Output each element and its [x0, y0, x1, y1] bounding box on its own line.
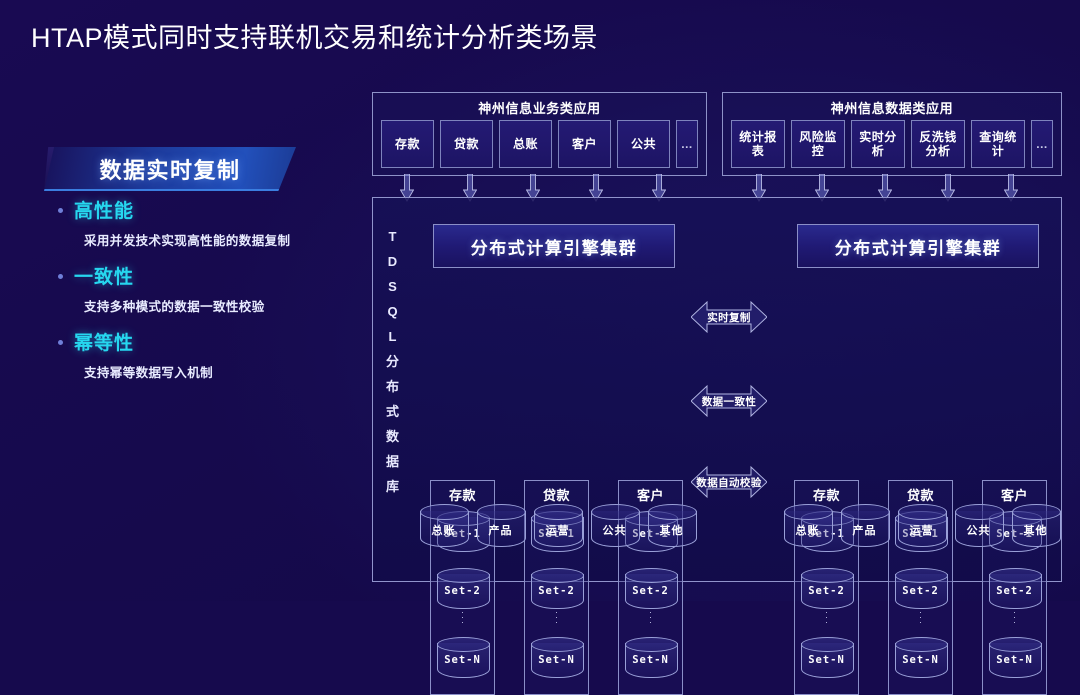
db-set-cylinder[interactable]: Set-2	[437, 568, 488, 608]
sync-arrow: 实时复制	[691, 296, 767, 338]
cylinder-top	[437, 568, 490, 583]
sync-arrow-label: 数据一致性	[691, 380, 767, 422]
db-domain-cylinder[interactable]: 产品	[477, 504, 524, 546]
app-cell[interactable]: 存款	[381, 120, 434, 168]
vertical-ellipsis-icon: ···	[619, 610, 682, 625]
cylinder-top	[591, 504, 640, 520]
vertical-ellipsis-icon: ···	[525, 610, 588, 625]
db-set-label: Set-2	[531, 585, 582, 597]
vertical-ellipsis-icon: ···	[983, 610, 1046, 625]
db-column-title: 贷款	[525, 485, 588, 504]
db-domain-label: 其他	[648, 522, 695, 538]
db-set-cylinder[interactable]: Set-2	[625, 568, 676, 608]
cylinder-top	[801, 568, 854, 583]
db-set-label: Set-N	[625, 654, 676, 666]
bullet-dot-icon	[58, 208, 63, 213]
cylinder-top	[420, 504, 469, 520]
db-set-cylinder[interactable]: Set-N	[531, 637, 582, 677]
tdsql-vertical-char: 分	[381, 349, 405, 374]
db-domain-cylinder[interactable]: 产品	[841, 504, 888, 546]
section-banner: 数据实时复制	[44, 147, 296, 191]
app-cell[interactable]: 客户	[558, 120, 611, 168]
feature-item: 高性能 采用并发技术实现高性能的数据复制	[58, 196, 358, 249]
db-column-title: 贷款	[889, 485, 952, 504]
db-set-label: Set-2	[437, 585, 488, 597]
cylinder-top	[898, 504, 947, 520]
vertical-ellipsis-icon: ···	[431, 610, 494, 625]
db-set-cylinder[interactable]: Set-N	[801, 637, 852, 677]
tdsql-vertical-label: TDSQL分布式数据库 TDSQL分布式数据库	[381, 224, 405, 499]
app-cell[interactable]: 公共	[617, 120, 670, 168]
db-set-cylinder[interactable]: Set-2	[801, 568, 852, 608]
cylinder-top	[801, 637, 854, 652]
db-set-label: Set-N	[437, 654, 488, 666]
db-set-label: Set-2	[895, 585, 946, 597]
db-set-cylinder[interactable]: Set-N	[625, 637, 676, 677]
app-group-title: 神州信息业务类应用	[373, 98, 706, 117]
cylinder-top	[955, 504, 1004, 520]
db-column-title: 客户	[619, 485, 682, 504]
sync-arrow-label: 实时复制	[691, 296, 767, 338]
cylinder-top	[531, 637, 584, 652]
db-domain-label: 其他	[1012, 522, 1059, 538]
feature-desc: 采用并发技术实现高性能的数据复制	[84, 230, 358, 249]
tdsql-vertical-char: T	[381, 224, 405, 249]
db-domain-label: 运营	[534, 522, 581, 538]
db-set-cylinder[interactable]: Set-N	[895, 637, 946, 677]
app-group-business: 神州信息业务类应用 存款 贷款 总账 客户 公共 …	[372, 92, 707, 176]
feature-title: 幂等性	[74, 328, 134, 355]
cylinder-top	[437, 637, 490, 652]
tdsql-vertical-char: 数	[381, 424, 405, 449]
app-group-data: 神州信息数据类应用 统计报表 风险监控 实时分析 反洗钱分析 查询统计 …	[722, 92, 1062, 176]
feature-item: 一致性 支持多种模式的数据一致性校验	[58, 262, 358, 315]
db-domain-label: 公共	[955, 522, 1002, 538]
cylinder-top	[895, 568, 948, 583]
db-set-label: Set-N	[989, 654, 1040, 666]
db-domain-cylinder[interactable]: 运营	[534, 504, 581, 546]
app-group-title: 神州信息数据类应用	[723, 98, 1061, 117]
cylinder-top	[534, 504, 583, 520]
banner-label: 数据实时复制	[44, 147, 296, 191]
db-set-cylinder[interactable]: Set-2	[989, 568, 1040, 608]
tdsql-vertical-char: 布	[381, 374, 405, 399]
tdsql-vertical-char: 库	[381, 474, 405, 499]
tdsql-vertical-char: L	[381, 324, 405, 349]
db-set-label: Set-N	[801, 654, 852, 666]
app-cell[interactable]: 查询统计	[971, 120, 1025, 168]
tdsql-vertical-char: Q	[381, 299, 405, 324]
page-title: HTAP模式同时支持联机交易和统计分析类场景	[31, 21, 598, 55]
cylinder-top	[625, 637, 678, 652]
db-domain-cylinder[interactable]: 总账	[784, 504, 831, 546]
bullet-dot-icon	[58, 340, 63, 345]
db-set-label: Set-N	[531, 654, 582, 666]
cylinder-top	[841, 504, 890, 520]
cylinder-top	[989, 568, 1042, 583]
db-domain-cylinder[interactable]: 公共	[955, 504, 1002, 546]
db-set-cylinder[interactable]: Set-2	[531, 568, 582, 608]
engine-bar-left: 分布式计算引擎集群	[433, 224, 675, 268]
db-domain-label: 公共	[591, 522, 638, 538]
db-domain-cylinder[interactable]: 其他	[648, 504, 695, 546]
vertical-ellipsis-icon: ···	[795, 610, 858, 625]
cylinder-top	[1012, 504, 1061, 520]
db-set-cylinder[interactable]: Set-N	[989, 637, 1040, 677]
engine-bar-right: 分布式计算引擎集群	[797, 224, 1039, 268]
app-cell[interactable]: 实时分析	[851, 120, 905, 168]
bullet-dot-icon	[58, 274, 63, 279]
cylinder-top	[989, 637, 1042, 652]
feature-list: 高性能 采用并发技术实现高性能的数据复制 一致性 支持多种模式的数据一致性校验 …	[58, 196, 358, 394]
cylinder-top	[895, 637, 948, 652]
db-domain-label: 总账	[420, 522, 467, 538]
tdsql-vertical-char: 据	[381, 449, 405, 474]
db-domain-label: 总账	[784, 522, 831, 538]
app-cell[interactable]: 总账	[499, 120, 552, 168]
tdsql-vertical-char: S	[381, 274, 405, 299]
db-set-label: Set-N	[895, 654, 946, 666]
db-domain-cylinder[interactable]: 运营	[898, 504, 945, 546]
feature-item: 幂等性 支持幂等数据写入机制	[58, 328, 358, 381]
db-domain-cylinder[interactable]: 其他	[1012, 504, 1059, 546]
cylinder-top	[531, 568, 584, 583]
vertical-ellipsis-icon: ···	[889, 610, 952, 625]
db-domain-label: 产品	[841, 522, 888, 538]
app-cell[interactable]: 统计报表	[731, 120, 785, 168]
db-column-title: 存款	[431, 485, 494, 504]
db-set-label: Set-2	[989, 585, 1040, 597]
db-column-title: 客户	[983, 485, 1046, 504]
sync-arrow: 数据一致性	[691, 380, 767, 422]
db-column-title: 存款	[795, 485, 858, 504]
sync-arrow: 数据自动校验	[691, 461, 767, 503]
sync-arrow-label: 数据自动校验	[691, 461, 767, 503]
app-cell[interactable]: 贷款	[440, 120, 493, 168]
tdsql-vertical-char: 式	[381, 399, 405, 424]
feature-desc: 支持多种模式的数据一致性校验	[84, 296, 358, 315]
cylinder-top	[625, 568, 678, 583]
app-cell[interactable]: 反洗钱分析	[911, 120, 965, 168]
db-set-label: Set-2	[625, 585, 676, 597]
feature-desc: 支持幂等数据写入机制	[84, 362, 358, 381]
db-domain-label: 产品	[477, 522, 524, 538]
db-domain-cylinder[interactable]: 总账	[420, 504, 467, 546]
db-set-cylinder[interactable]: Set-2	[895, 568, 946, 608]
cylinder-top	[477, 504, 526, 520]
cylinder-top	[784, 504, 833, 520]
app-cell-more[interactable]: …	[676, 120, 698, 168]
feature-title: 一致性	[74, 262, 134, 289]
tdsql-vertical-char: D	[381, 249, 405, 274]
cylinder-top	[648, 504, 697, 520]
db-domain-cylinder[interactable]: 公共	[591, 504, 638, 546]
app-cell-more[interactable]: …	[1031, 120, 1053, 168]
app-cell[interactable]: 风险监控	[791, 120, 845, 168]
feature-title: 高性能	[74, 196, 134, 223]
db-set-label: Set-2	[801, 585, 852, 597]
db-set-cylinder[interactable]: Set-N	[437, 637, 488, 677]
db-domain-label: 运营	[898, 522, 945, 538]
